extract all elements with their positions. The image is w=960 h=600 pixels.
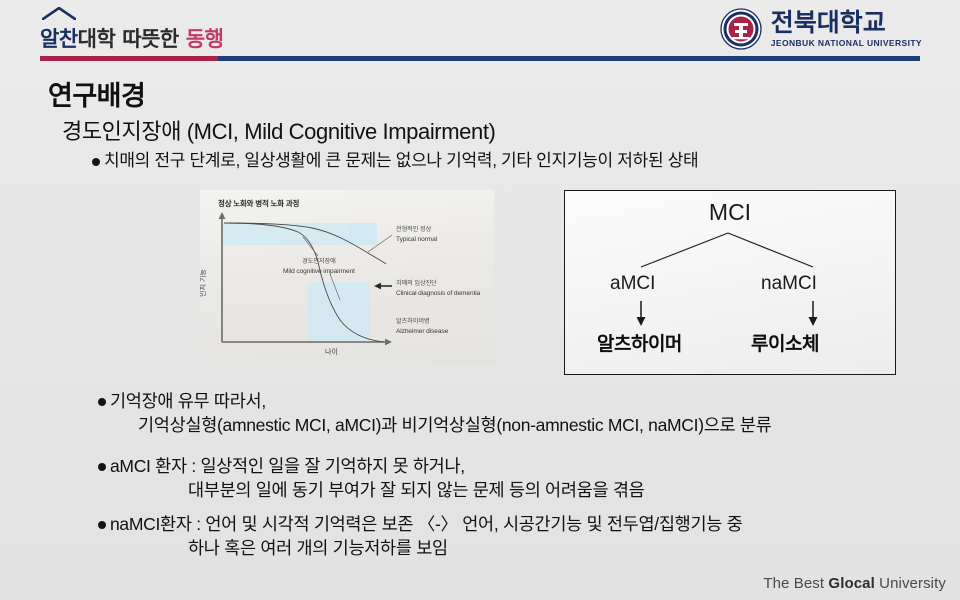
bullet-dot-icon (98, 398, 106, 406)
bullet-line-1: 기억장애 유무 따라서, (110, 391, 266, 411)
chart-annotation-alzheimer: 알츠하이머병 Alzheimer disease (396, 318, 448, 337)
chart-annotation-dementia-diagnosis: 치매의 임상진단 Clinical diagnosis of dementia (396, 280, 480, 299)
annotation-kr: 알츠하이머병 (396, 318, 448, 327)
bullet-namci: naMCI환자 : 언어 및 시각적 기억력은 보존 〈-〉 언어, 시공간기능… (98, 513, 742, 560)
slogan-word-3: 따뜻한 (122, 29, 178, 50)
footer-text-after: University (875, 575, 946, 592)
house-roof-icon (42, 7, 76, 20)
slide-header: 알찬 대학 따뜻한 동행 (0, 0, 960, 62)
annotation-kr: 경도인지장애 (283, 258, 355, 267)
university-name-en: JEONBUK NATIONAL UNIVERSITY (771, 39, 922, 48)
divider-red-segment (40, 56, 218, 61)
bullet-amci: aMCI 환자 : 일상적인 일을 잘 기억하지 못 하거나, 대부분의 일에 … (98, 455, 644, 502)
slide-canvas: 알찬 대학 따뜻한 동행 (0, 0, 960, 600)
intro-bullet: 치매의 전구 단계로, 일상생활에 큰 문제는 없으나 기억력, 기타 인지기능… (92, 150, 698, 173)
bullet-dot-icon (98, 521, 106, 529)
bullet-dot-icon (98, 463, 106, 471)
university-name-kr: 전북대학교 (771, 11, 886, 36)
annotation-kr: 전형적인 정상 (396, 226, 437, 235)
mci-classification-diagram: MCI aMCI naMCI 알츠하이머 루이소체 (564, 190, 896, 375)
bullet-line-1: aMCI 환자 : 일상적인 일을 잘 기억하지 못 하거나, (110, 456, 465, 476)
annotation-en: Clinical diagnosis of dementia (396, 289, 480, 299)
annotation-kr: 치매의 임상진단 (396, 280, 480, 289)
university-slogan: 알찬 대학 따뜻한 동행 (40, 16, 223, 50)
footer-text-before: The Best (763, 575, 828, 592)
chart-x-axis-label: 나이 (325, 347, 338, 357)
slide-subtitle: 경도인지장애 (MCI, Mild Cognitive Impairment) (62, 114, 495, 146)
bullet-line-1: naMCI환자 : 언어 및 시각적 기억력은 보존 〈-〉 언어, 시공간기능… (110, 514, 742, 534)
university-name-block: 전북대학교 JEONBUK NATIONAL UNIVERSITY (771, 11, 922, 48)
bullet-line-2: 기억상실형(amnestic MCI, aMCI)과 비기억상실형(non-am… (110, 414, 772, 438)
header-divider (0, 56, 960, 61)
slogan-word-2: 대학 (78, 29, 116, 50)
bullet-line-2: 하나 혹은 여러 개의 기능저하를 보임 (110, 537, 742, 561)
annotation-en: Mild cognitive impairment (283, 267, 355, 277)
annotation-en: Alzheimer disease (396, 327, 448, 337)
chart-y-axis-label: 인지 기능 (200, 269, 208, 297)
page-title: 연구배경 (48, 74, 145, 113)
mci-leaf-lewy-body: 루이소체 (751, 329, 819, 356)
mci-node-namci: naMCI (761, 273, 817, 295)
divider-blue-segment (218, 56, 920, 61)
intro-bullet-text: 치매의 전구 단계로, 일상생활에 큰 문제는 없으나 기억력, 기타 인지기능… (104, 150, 698, 173)
university-logo: 전북대학교 JEONBUK NATIONAL UNIVERSITY (720, 8, 922, 50)
bullet-classification-text: 기억장애 유무 따라서, 기억상실형(amnestic MCI, aMCI)과 … (110, 390, 772, 437)
mci-node-amci: aMCI (610, 273, 655, 295)
chart-annotation-typical-normal: 전형적인 정상 Typical normal (396, 226, 437, 245)
bullet-namci-text: naMCI환자 : 언어 및 시각적 기억력은 보존 〈-〉 언어, 시공간기능… (110, 513, 742, 560)
slogan-word-1: 알찬 (40, 29, 78, 50)
footer-text-bold: Glocal (828, 575, 874, 592)
mci-leaf-alzheimer: 알츠하이머 (597, 329, 682, 356)
bullet-classification: 기억장애 유무 따라서, 기억상실형(amnestic MCI, aMCI)과 … (98, 390, 772, 437)
bullet-amci-text: aMCI 환자 : 일상적인 일을 잘 기억하지 못 하거나, 대부분의 일에 … (110, 455, 644, 502)
slogan-word-4: 동행 (186, 29, 224, 50)
university-crest-icon (720, 8, 762, 50)
bullet-line-2: 대부분의 일에 동기 부여가 잘 되지 않는 문제 등의 어려움을 겪음 (110, 479, 644, 503)
annotation-en: Typical normal (396, 235, 437, 245)
slide-footer: The Best Glocal University (763, 575, 946, 592)
bullet-dot-icon (92, 158, 100, 166)
chart-annotation-mci: 경도인지장애 Mild cognitive impairment (283, 258, 355, 277)
aging-cognition-chart: 정상 노화와 병적 노화 과정 전형적인 정상 Typical n (200, 190, 494, 363)
